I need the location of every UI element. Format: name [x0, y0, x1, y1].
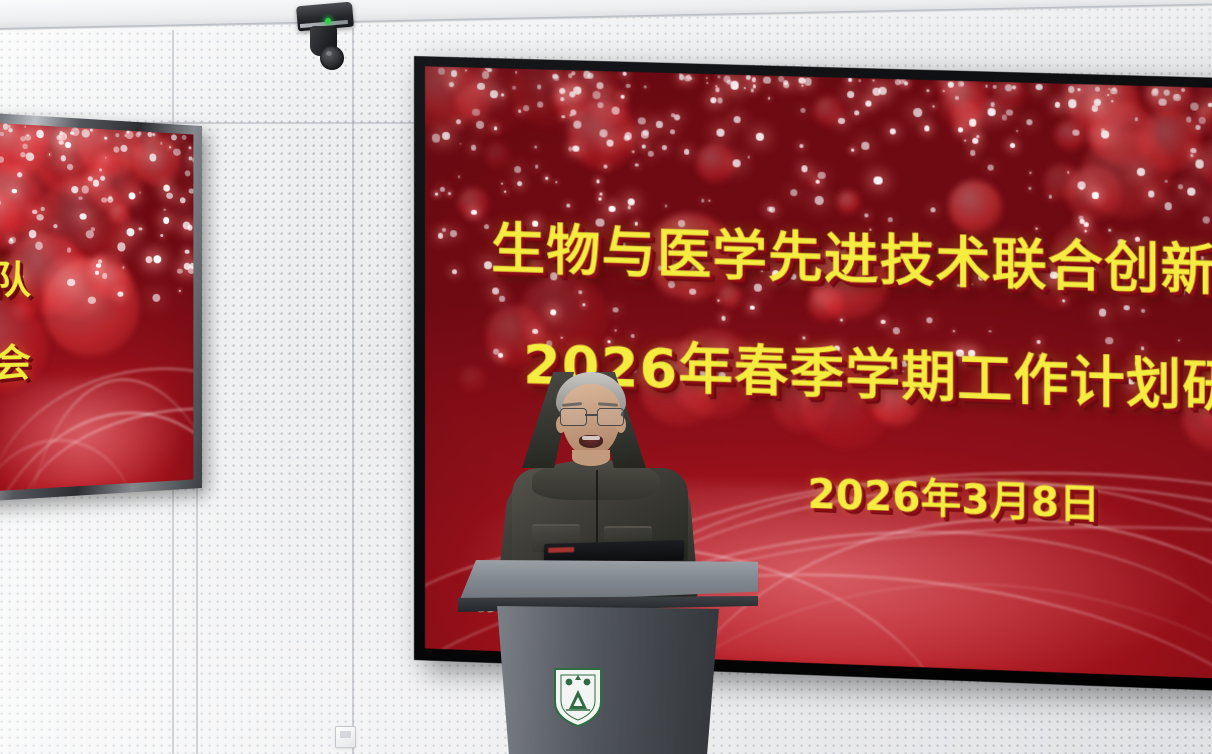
conference-room-photo: 创新团队 划研讨会 生物与医学先进技术联合创新团队 2026年春季学期工作计划研… [0, 0, 1212, 754]
poster-artwork: 创新团队 划研讨会 [0, 121, 193, 492]
poster-text-line-2: 划研讨会 [0, 331, 193, 392]
laptop-on-lectern[interactable] [544, 540, 684, 564]
wall-panel-seam [352, 28, 354, 754]
lectern [458, 560, 758, 754]
slide-date-line: 2026年3月8日 [808, 461, 1100, 530]
glasses-lens-right [597, 408, 624, 426]
camera-status-led [325, 18, 331, 24]
ceiling-security-camera [292, 2, 358, 74]
presenter-mouth [579, 435, 603, 448]
wall-panel-seam [196, 486, 198, 754]
lectern-body [490, 606, 726, 754]
camera-lens-icon [320, 46, 344, 70]
side-poster-board: 创新团队 划研讨会 [0, 111, 202, 503]
presenter-glasses [558, 408, 624, 425]
wall-switch-plate[interactable] [335, 726, 356, 748]
poster-text-line-1: 创新团队 [0, 247, 193, 305]
glasses-bridge [585, 414, 597, 416]
poster-art-layer [0, 121, 193, 492]
glasses-lens-left [560, 408, 587, 426]
university-shield-emblem [552, 666, 604, 728]
presenter-chin [572, 450, 610, 466]
